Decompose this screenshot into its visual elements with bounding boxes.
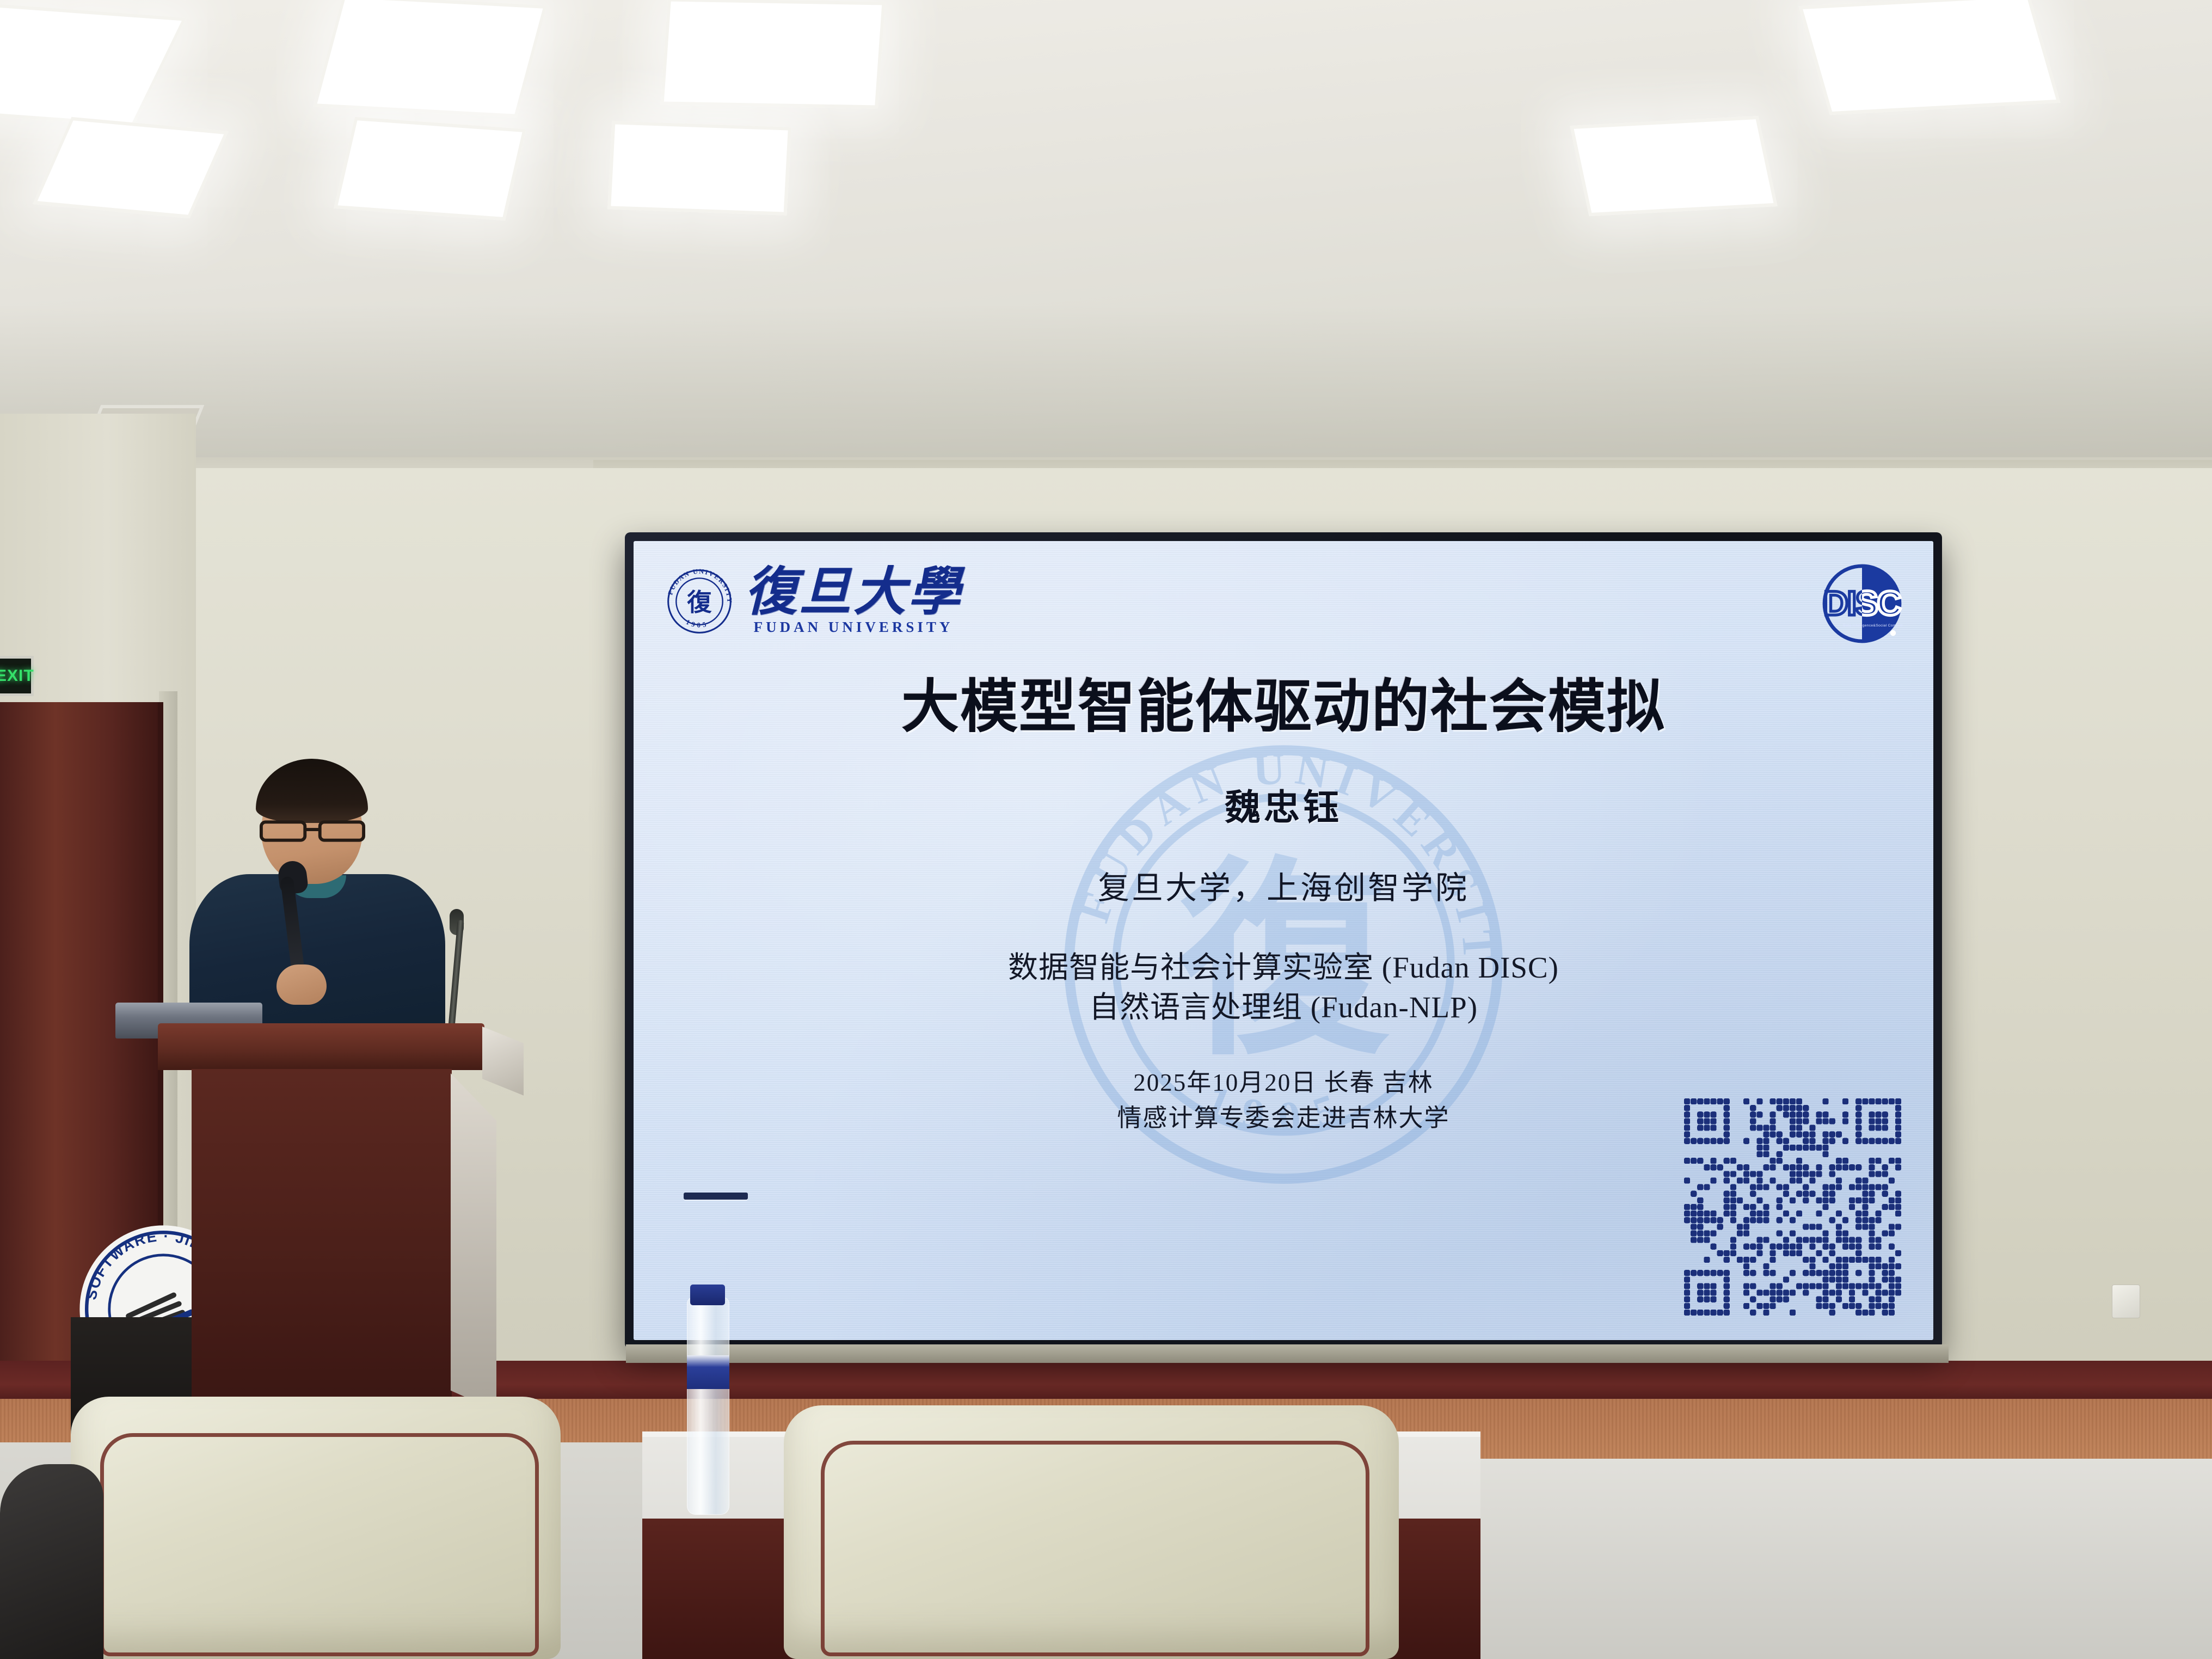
lectern [158, 1023, 517, 1453]
ceiling-light-panel [607, 121, 791, 216]
lectern-body-side [451, 1073, 496, 1411]
slide-title: 大模型智能体驱动的社会模拟 [901, 660, 1666, 744]
exit-sign-label: EXIT [0, 667, 34, 685]
chair[interactable] [71, 1397, 561, 1659]
speaker-hair [256, 759, 368, 823]
water-bottle-cap [690, 1285, 725, 1305]
ceiling-light-panel [660, 0, 885, 108]
audience-person [0, 1464, 103, 1659]
lectern-body [192, 1069, 452, 1428]
slide-lab-lines: 数据智能与社会计算实验室 (Fudan DISC) 自然语言处理组 (Fudan… [1008, 948, 1559, 1027]
slide-date-line: 2025年10月20日 长春 吉林 [1117, 1065, 1449, 1101]
slide-affiliation: 复旦大学，上海创智学院 [1098, 862, 1469, 908]
slide-date-block: 2025年10月20日 长春 吉林 情感计算专委会走进吉林大学 [1117, 1065, 1449, 1136]
glasses-icon [259, 819, 366, 843]
projection-screen-bezel: FUDAN UNIVERSITY 1905 復 FUDAN U [625, 532, 1942, 1349]
slide-rule-mark [684, 1193, 748, 1200]
qr-code[interactable] [1684, 1098, 1902, 1316]
ceiling-light-panel [334, 117, 526, 220]
lectern-top [158, 1023, 484, 1070]
water-bottle[interactable] [687, 1297, 729, 1515]
ceiling-light-panel [1799, 0, 2061, 115]
slide-author: 魏忠钰 [1225, 778, 1342, 831]
slide-lab-line-2: 自然语言处理组 (Fudan-NLP) [1008, 988, 1559, 1028]
water-bottle-label [687, 1355, 729, 1389]
ceiling-light-panel [313, 0, 547, 118]
speaker-hand [276, 964, 327, 1005]
front-table-right [1470, 1459, 2212, 1659]
screen-shelf [626, 1344, 1949, 1363]
lecture-hall-photo: EXIT FUDAN UNIVERSITY 1905 [0, 0, 2212, 1659]
ceiling-light-panel [1570, 116, 1777, 216]
chair[interactable] [784, 1405, 1399, 1659]
exit-sign: EXIT [0, 656, 34, 696]
light-switch[interactable] [2112, 1285, 2140, 1318]
slide-lab-line-1: 数据智能与社会计算实验室 (Fudan DISC) [1008, 948, 1559, 988]
presentation-slide: FUDAN UNIVERSITY 1905 復 FUDAN U [634, 541, 1933, 1340]
slide-event-line: 情感计算专委会走进吉林大学 [1117, 1101, 1449, 1136]
